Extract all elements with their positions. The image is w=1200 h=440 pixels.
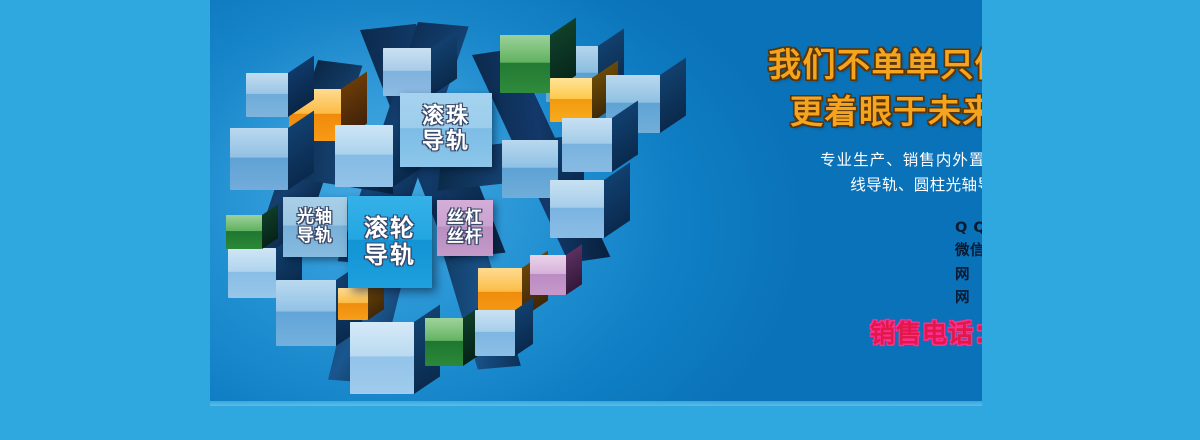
label-line: 光轴: [297, 208, 333, 227]
label-box-gunlun-daogui[interactable]: 滚轮 导轨: [348, 196, 432, 288]
label-line: 丝杆: [447, 228, 483, 247]
description-text: 专业生产、销售内外置双轴心滚轮直线导轨、滚珠直线导轨、圆柱光轴导轨、丝杠丝杆、直…: [820, 148, 982, 198]
cube-face: [276, 280, 336, 346]
cube-face: [226, 215, 262, 249]
label-line: 导轨: [297, 227, 333, 246]
cube-blue: [228, 248, 276, 298]
cube-face: [550, 78, 592, 122]
cube-blue: [550, 180, 604, 238]
cube-blue: [383, 48, 431, 96]
cube-blue: [230, 128, 288, 190]
banner-panel: 滚珠 导轨 光轴 导轨 滚轮 导轨 丝杠 丝杆 我们不单单只做您目前的订单 更着…: [210, 0, 982, 406]
promo-banner: 滚珠 导轨 光轴 导轨 滚轮 导轨 丝杠 丝杆 我们不单单只做您目前的订单 更着…: [0, 0, 1200, 440]
cube-green: [425, 318, 463, 366]
panel-bottom-edge: [210, 401, 982, 406]
cube-face: [562, 118, 612, 172]
cube-pink: [530, 255, 566, 295]
cube-face: [350, 322, 414, 394]
cube-orange: [338, 288, 368, 320]
cube-face: [425, 318, 463, 366]
cube-side: [660, 57, 686, 133]
cube-face: [228, 248, 276, 298]
cube-side: [566, 244, 582, 295]
cube-face: [230, 128, 288, 190]
website-1-label: 网 址: [955, 265, 982, 286]
contact-row-wechat: 微信号 ： zxdgzc （直线导轨轴承）: [955, 241, 982, 262]
cube-side: [604, 162, 630, 238]
sales-phone[interactable]: 销售电话： 18357860469: [870, 314, 982, 350]
label-line: 滚珠: [422, 105, 470, 130]
contact-row-qq: Q Q ： 80286553: [955, 218, 982, 239]
cube-blue: [276, 280, 336, 346]
qq-label: Q Q: [955, 218, 982, 239]
cube-blue: [562, 118, 612, 172]
cube-yellow: [550, 78, 592, 122]
headline: 我们不单单只做您目前的订单 更着眼于未来与您长期合作: [768, 42, 982, 136]
cube-blue: [335, 125, 393, 187]
headline-line-1: 我们不单单只做您目前的订单: [768, 42, 982, 89]
contact-block: Q Q ： 80286553 微信号 ： zxdgzc （直线导轨轴承） 网 址…: [955, 218, 982, 312]
cube-face: [246, 73, 288, 117]
contact-row-website-2: 网 址 ： Www.Cnzxdg.Com: [955, 288, 982, 309]
cube-face: [475, 310, 515, 356]
cube-face: [338, 288, 368, 320]
label-box-gunzhu-daogui[interactable]: 滚珠 导轨: [400, 93, 492, 167]
cube-side: [515, 298, 533, 356]
label-line: 丝杠: [447, 209, 483, 228]
cube-blue: [475, 310, 515, 356]
label-line: 导轨: [422, 130, 470, 155]
label-line: 导轨: [364, 242, 416, 269]
label-box-guangzhou-daogui[interactable]: 光轴 导轨: [283, 197, 347, 257]
cube-face: [500, 35, 550, 93]
website-2-label: 网 址: [955, 288, 982, 309]
cube-green: [226, 215, 262, 249]
cube-face: [530, 255, 566, 295]
label-line: 滚轮: [364, 215, 416, 242]
cube-face: [335, 125, 393, 187]
contact-row-website-1: 网 址 ： Www.Zxdgzc.Com: [955, 265, 982, 286]
label-box-sigang-sigan[interactable]: 丝杠 丝杆: [437, 200, 493, 256]
banner-content: 我们不单单只做您目前的订单 更着眼于未来与您长期合作 专业生产、销售内外置双轴心…: [750, 0, 982, 406]
cube-green: [500, 35, 550, 93]
sales-phone-label: 销售电话：: [870, 319, 982, 348]
cube-blue: [246, 73, 288, 117]
cube-blue: [350, 322, 414, 394]
cube-face: [550, 180, 604, 238]
cube-face: [383, 48, 431, 96]
headline-line-2: 更着眼于未来与您长期合作: [768, 89, 982, 136]
cube-cluster-graphic: 滚珠 导轨 光轴 导轨 滚轮 导轨 丝杠 丝杆: [210, 0, 610, 406]
wechat-label: 微信号: [955, 241, 982, 262]
